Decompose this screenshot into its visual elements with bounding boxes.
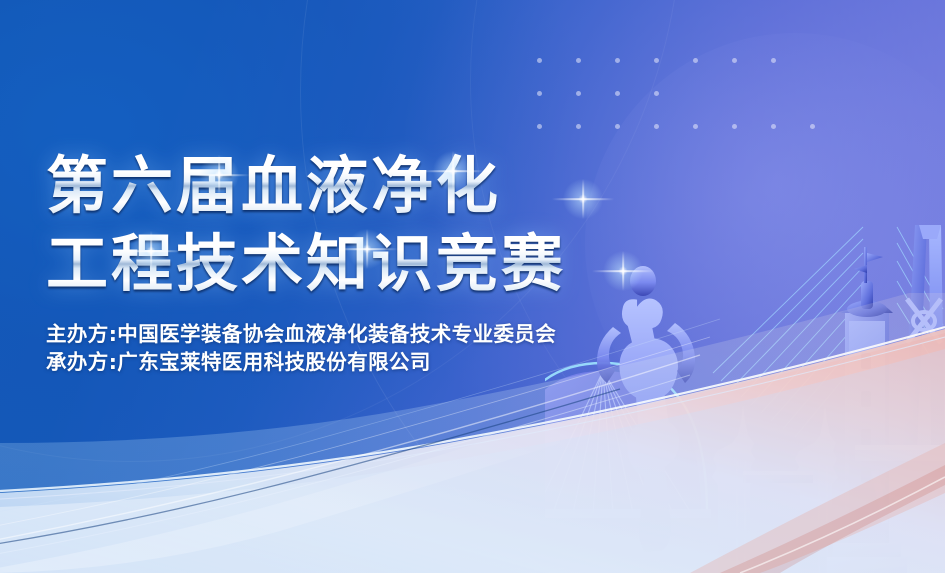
grid-dot (810, 124, 815, 129)
grid-dot (576, 58, 581, 63)
grid-dot (576, 124, 581, 129)
title-line-2: 工程技术知识竞赛 (46, 228, 686, 300)
title-line-1: 第六届血液净化 (46, 150, 686, 222)
grid-dot (771, 58, 776, 63)
grid-dot (693, 124, 698, 129)
grid-dot (732, 58, 737, 63)
grid-dot (615, 91, 620, 96)
grid-dot (537, 124, 542, 129)
grid-dot (615, 124, 620, 129)
poster-banner: 第六届血液净化 工程技术知识竞赛 主办方:中国医学装备协会血液净化装备技术专业委… (0, 0, 945, 573)
grid-dot (693, 58, 698, 63)
grid-dot (615, 58, 620, 63)
organizer-line: 主办方:中国医学装备协会血液净化装备技术专业委员会 (46, 320, 686, 348)
co-organizer-line: 承办方:广东宝莱特医用科技股份有限公司 (46, 348, 686, 376)
credits-block: 主办方:中国医学装备协会血液净化装备技术专业委员会 承办方:广东宝莱特医用科技股… (46, 320, 686, 376)
grid-dot (654, 58, 659, 63)
grid-dot (537, 58, 542, 63)
grid-dot (654, 91, 659, 96)
grid-dot (732, 124, 737, 129)
grid-dot (771, 124, 776, 129)
text-block: 第六届血液净化 工程技术知识竞赛 主办方:中国医学装备协会血液净化装备技术专业委… (46, 150, 686, 376)
grid-dot (576, 91, 581, 96)
grid-dot (654, 124, 659, 129)
grid-dot (537, 91, 542, 96)
